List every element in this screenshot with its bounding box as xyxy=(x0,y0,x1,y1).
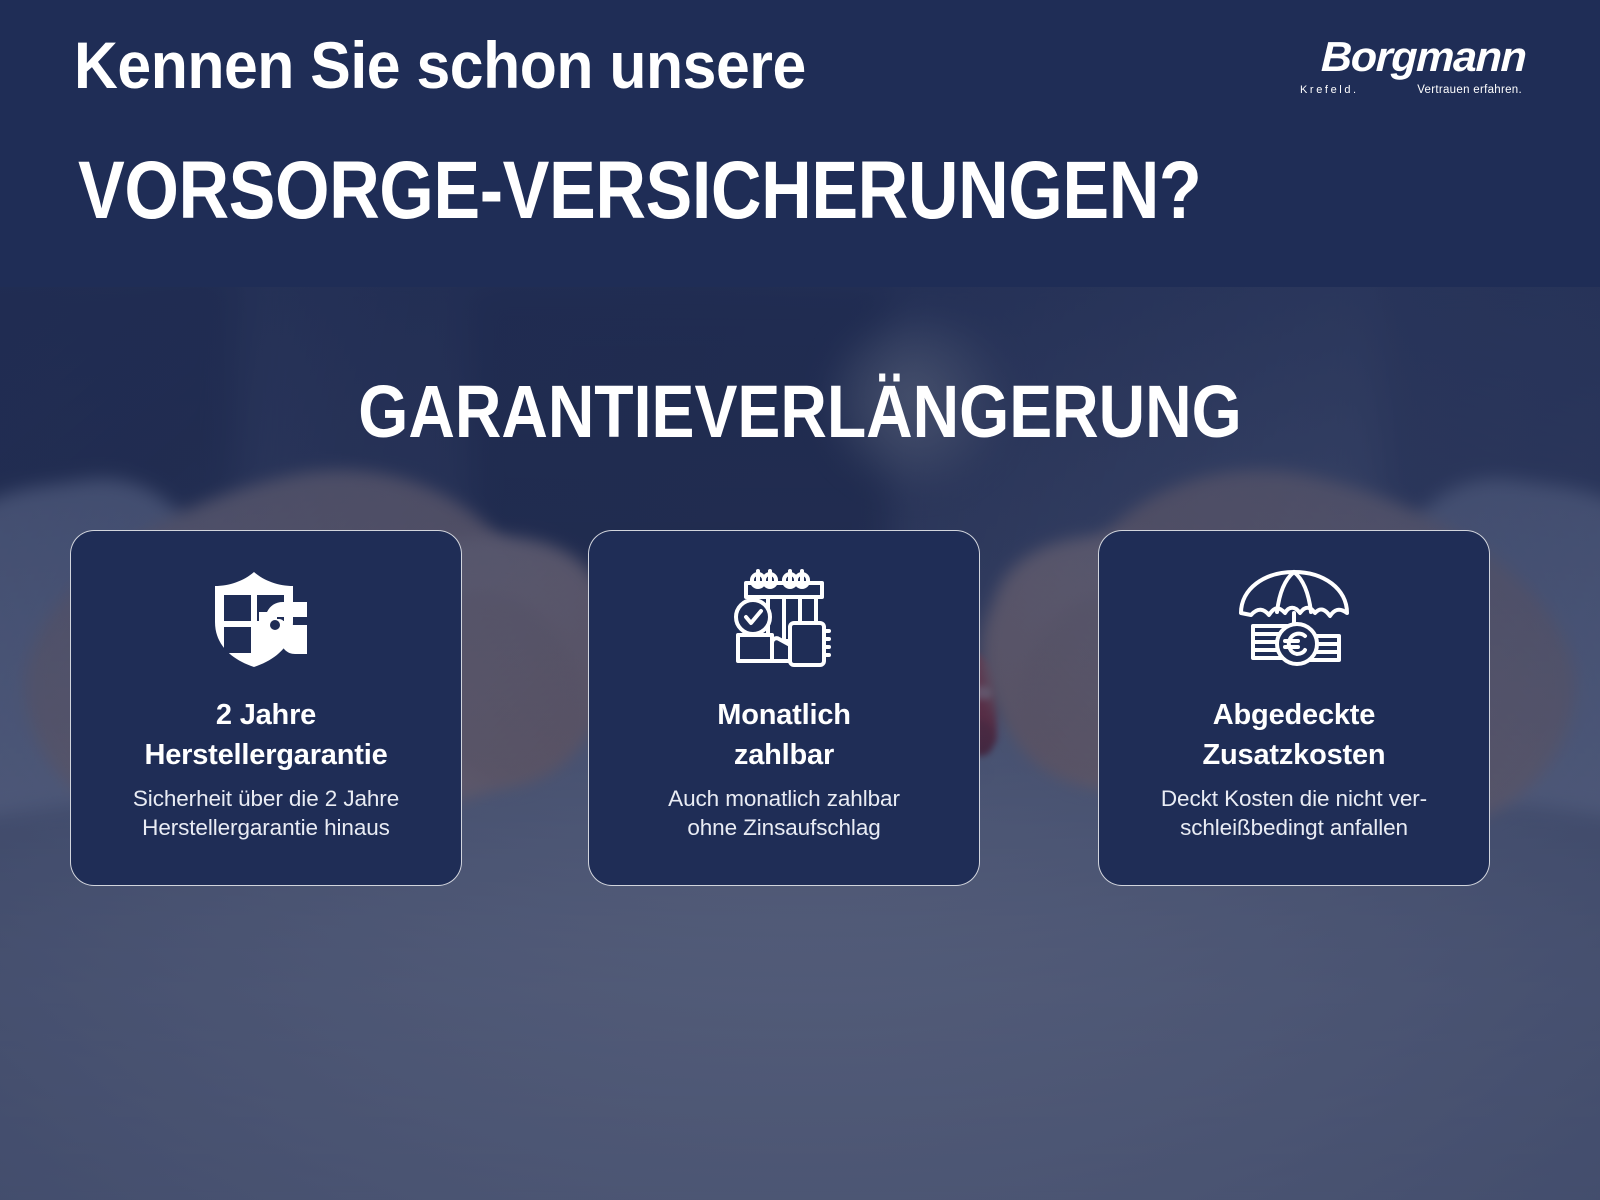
card-title-line2: Zusatzkosten xyxy=(1124,735,1464,775)
card-subtitle: Auch monatlich zahlbar ohne Zinsaufschla… xyxy=(614,785,954,843)
headline-primary: Kennen Sie schon unsere xyxy=(74,32,806,98)
header-band: Kennen Sie schon unsere VORSORGE-VERSICH… xyxy=(0,0,1600,287)
card-sub-line2: schleißbedingt anfallen xyxy=(1124,814,1464,843)
card-title-line1: Abgedeckte xyxy=(1124,695,1464,735)
card-title-line1: 2 Jahre xyxy=(96,695,436,735)
shield-car-icon xyxy=(206,563,326,675)
logo-tagline: Krefeld. Vertrauen erfahren. xyxy=(1300,84,1522,96)
card-title-line1: Monatlich xyxy=(614,695,954,735)
section-title: GARANTIEVERLÄNGERUNG xyxy=(104,375,1496,449)
card-sub-line1: Deckt Kosten die nicht ver- xyxy=(1124,785,1464,814)
card-sub-line1: Auch monatlich zahlbar xyxy=(614,785,954,814)
card-sub-line2: ohne Zinsaufschlag xyxy=(614,814,954,843)
feature-card-row: 2 Jahre Herstellergarantie Sicherheit üb… xyxy=(0,530,1600,886)
borgmann-logo[interactable]: Borgmann Krefeld. Vertrauen erfahren. xyxy=(1300,36,1522,104)
advertisement-banner: Kennen Sie schon unsere VORSORGE-VERSICH… xyxy=(0,0,1600,1200)
card-sub-line1: Sicherheit über die 2 Jahre xyxy=(96,785,436,814)
card-subtitle: Deckt Kosten die nicht ver- schleißbedin… xyxy=(1124,785,1464,843)
umbrella-euro-coins-icon xyxy=(1234,563,1354,675)
card-title-line2: zahlbar xyxy=(614,735,954,775)
logo-tagline-city: Krefeld. xyxy=(1300,84,1359,96)
card-sub-line2: Herstellergarantie hinaus xyxy=(96,814,436,843)
logo-tagline-slogan: Vertrauen erfahren. xyxy=(1417,84,1522,96)
card-title: Monatlich zahlbar xyxy=(614,695,954,775)
card-title: 2 Jahre Herstellergarantie xyxy=(96,695,436,775)
card-title: Abgedeckte Zusatzkosten xyxy=(1124,695,1464,775)
card-title-line2: Herstellergarantie xyxy=(96,735,436,775)
feature-card-monatlich-zahlbar[interactable]: Monatlich zahlbar Auch monatlich zahlbar… xyxy=(588,530,980,886)
card-subtitle: Sicherheit über die 2 Jahre Herstellerga… xyxy=(96,785,436,843)
calendar-check-cash-icon xyxy=(724,563,844,675)
headline-secondary: VORSORGE-VERSICHERUNGEN? xyxy=(78,150,1201,232)
logo-wordmark: Borgmann xyxy=(1299,36,1527,78)
feature-card-herstellergarantie[interactable]: 2 Jahre Herstellergarantie Sicherheit üb… xyxy=(70,530,462,886)
feature-card-zusatzkosten[interactable]: Abgedeckte Zusatzkosten Deckt Kosten die… xyxy=(1098,530,1490,886)
